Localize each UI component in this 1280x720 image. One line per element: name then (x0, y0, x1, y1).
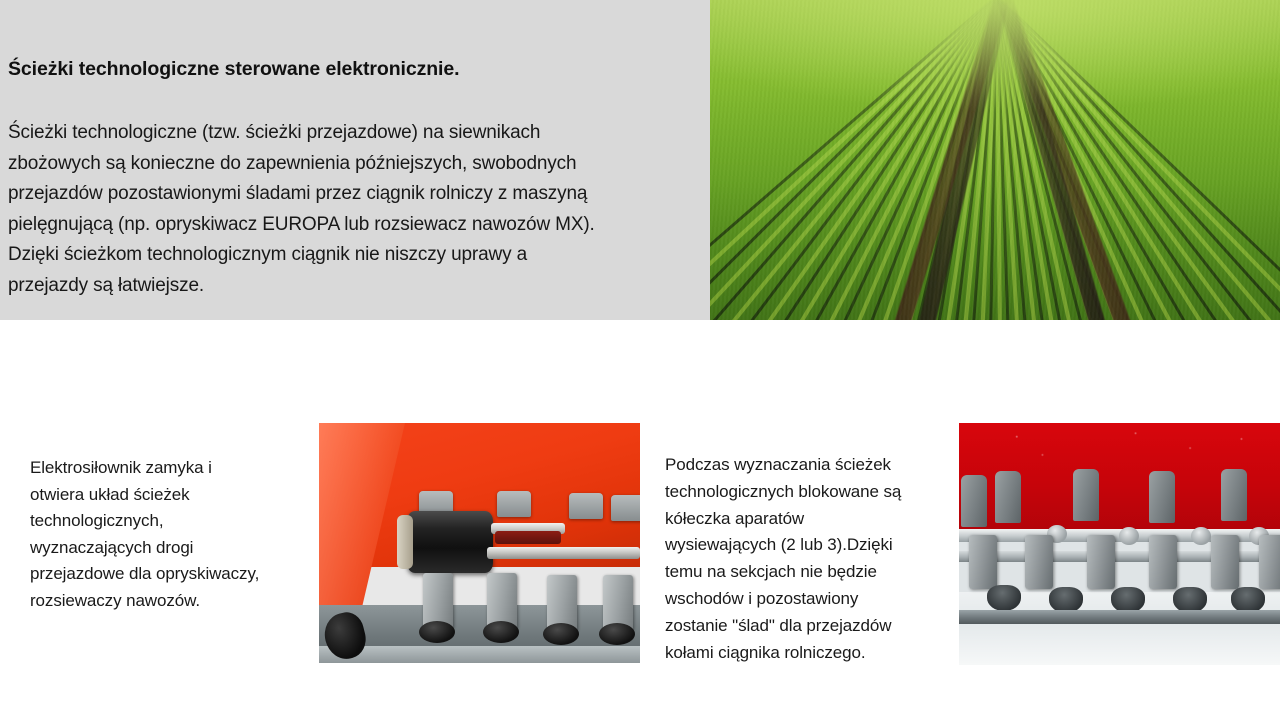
caption-line: technologicznych, (30, 508, 310, 535)
seed-chute (961, 475, 987, 527)
sowing-unit (1087, 535, 1115, 589)
field-haze (710, 0, 1280, 320)
page-title: Ścieżki technologiczne sterowane elektro… (8, 58, 459, 81)
caption-line: temu na sekcjach nie będzie (665, 559, 955, 586)
caption-line: przejazdowe dla opryskiwaczy, (30, 561, 310, 588)
sowing-unit (1149, 535, 1177, 589)
outlet-flap (611, 495, 640, 521)
caption-line: zostanie "ślad" dla przejazdów (665, 613, 955, 640)
caption-actuator: Elektrosiłownik zamyka i otwiera układ ś… (30, 455, 310, 615)
intro-line: przejazdy są łatwiejsze. (8, 271, 702, 302)
actuator-rod-red-sleeve (495, 531, 561, 544)
caption-line: wyznaczających drogi (30, 535, 310, 562)
crop-field-photo (710, 0, 1280, 320)
shaft-collar (1119, 527, 1139, 545)
seed-drill-actuator-photo (319, 423, 640, 663)
seed-chute (1073, 469, 1099, 521)
caption-line: kołami ciągnika rolniczego. (665, 640, 955, 667)
caption-line: kółeczka aparatów (665, 506, 955, 533)
seed-boot (543, 623, 579, 645)
frame-base-edge (319, 646, 640, 663)
seed-boot (483, 621, 519, 643)
electric-actuator-cylinder (407, 511, 493, 573)
outlet-flap (497, 491, 531, 517)
intro-line: Dzięki ścieżkom technologicznym ciągnik … (8, 240, 702, 271)
caption-line: rozsiewaczy nawozów. (30, 588, 310, 615)
seed-drill-metering-units-photo (959, 423, 1280, 665)
seed-boot (987, 585, 1021, 611)
sowing-unit (1211, 535, 1239, 589)
sowing-unit (969, 535, 997, 589)
caption-line: Podczas wyznaczania ścieżek (665, 452, 955, 479)
lower-frame-rail (959, 610, 1280, 624)
seed-boot (599, 623, 635, 645)
text-panel: Ścieżki technologiczne sterowane elektro… (0, 0, 710, 320)
intro-line: pielęgnującą (np. opryskiwacz EUROPA lub… (8, 210, 702, 241)
seed-chute (1221, 469, 1247, 521)
seed-chute (995, 471, 1021, 523)
shaft-collar (1191, 527, 1211, 545)
drive-shaft (487, 547, 640, 559)
caption-line: otwiera układ ścieżek (30, 482, 310, 509)
seed-chute (1149, 471, 1175, 523)
caption-line: wysiewających (2 lub 3).Dzięki (665, 532, 955, 559)
outlet-flap (569, 493, 603, 519)
intro-paragraph: Ścieżki technologiczne (tzw. ścieżki prz… (8, 118, 702, 301)
caption-line: wschodów i pozostawiony (665, 586, 955, 613)
intro-line: przejazdów pozostawionymi śladami przez … (8, 179, 702, 210)
sowing-unit (1259, 535, 1280, 589)
intro-line: Ścieżki technologiczne (tzw. ścieżki prz… (8, 118, 702, 149)
intro-line: zbożowych są konieczne do zapewnienia pó… (8, 149, 702, 180)
actuator-mount (397, 515, 413, 569)
seed-boot (419, 621, 455, 643)
sowing-unit (1025, 535, 1053, 589)
caption-sowing-units: Podczas wyznaczania ścieżek technologicz… (665, 452, 955, 666)
caption-line: technologicznych blokowane są (665, 479, 955, 506)
caption-line: Elektrosiłownik zamyka i (30, 455, 310, 482)
